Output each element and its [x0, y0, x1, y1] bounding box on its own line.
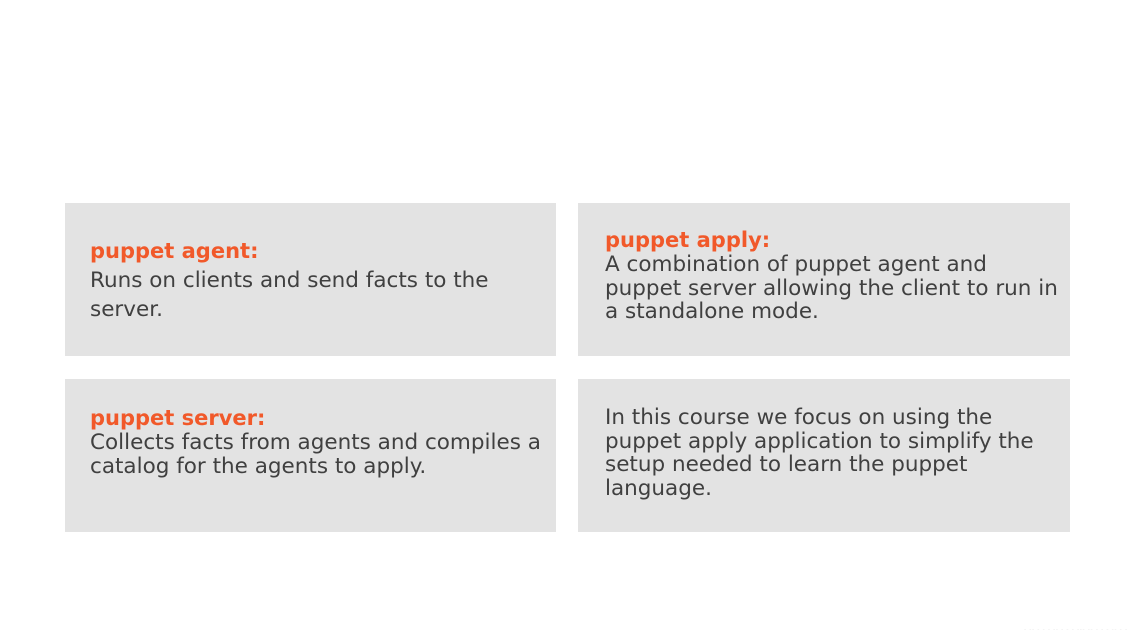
card-text-puppet-server: Collects facts from agents and compiles … [90, 431, 542, 478]
card-heading-puppet-server: puppet server: [90, 406, 542, 431]
card-course-note: In this course we focus on using the pup… [578, 379, 1070, 532]
card-body: puppet agent: Runs on clients and send f… [90, 237, 542, 324]
slide-canvas: puppet agent: Runs on clients and send f… [0, 0, 1135, 638]
card-heading-puppet-apply: puppet apply: [605, 228, 1058, 253]
card-text-puppet-apply: A combination of puppet agent and puppet… [605, 253, 1058, 324]
card-body: In this course we focus on using the pup… [605, 406, 1056, 500]
card-heading-puppet-agent: puppet agent: [90, 237, 542, 266]
card-text-course-note: In this course we focus on using the pup… [605, 406, 1056, 500]
watermark-artifact: - -- - - - -- - - - --- -- - - - -- - - [1024, 626, 1132, 634]
card-puppet-apply: puppet apply: A combination of puppet ag… [578, 203, 1070, 356]
card-body: puppet server: Collects facts from agent… [90, 406, 542, 478]
card-text-puppet-agent: Runs on clients and send facts to the se… [90, 266, 542, 324]
card-puppet-server: puppet server: Collects facts from agent… [65, 379, 556, 532]
card-body: puppet apply: A combination of puppet ag… [605, 228, 1058, 324]
card-puppet-agent: puppet agent: Runs on clients and send f… [65, 203, 556, 356]
